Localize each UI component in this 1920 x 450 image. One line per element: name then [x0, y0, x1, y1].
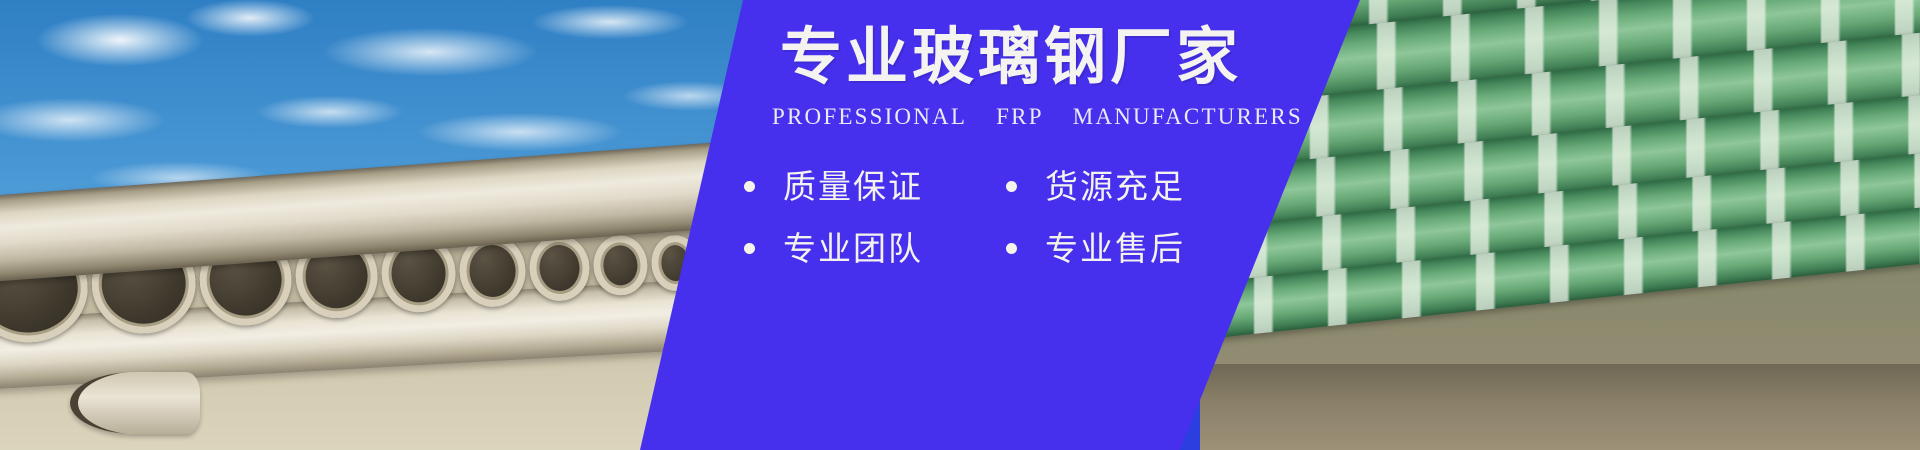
bullet-dot-icon: [1006, 243, 1017, 254]
feature-item-quality: 质量保证: [744, 170, 1006, 203]
feature-item-aftersales: 专业售后: [1006, 232, 1185, 265]
subheadline: PROFESSIONAL FRP MANUFACTURERS: [772, 104, 1303, 130]
headline: 专业玻璃钢厂家: [780, 26, 1242, 88]
pipe-opening: [592, 234, 649, 297]
feature-label: 质量保证: [783, 170, 923, 203]
feature-label: 专业团队: [783, 232, 923, 265]
feature-item-team: 专业团队: [744, 232, 1006, 265]
feature-list: 质量保证 货源充足 专业团队 专业售后: [744, 155, 1264, 279]
feature-row: 专业团队 专业售后: [744, 217, 1264, 279]
promotional-banner: 专业玻璃钢厂家 PROFESSIONAL FRP MANUFACTURERS 质…: [0, 0, 1920, 450]
subheadline-word-1: PROFESSIONAL: [772, 104, 966, 129]
bullet-dot-icon: [744, 243, 755, 254]
bullet-dot-icon: [1006, 181, 1017, 192]
subheadline-word-3: MANUFACTURERS: [1073, 104, 1303, 129]
pipe-opening: [528, 233, 592, 302]
grey-pipe-stub: [70, 372, 200, 434]
feature-label: 专业售后: [1045, 232, 1185, 265]
subheadline-word-2: FRP: [996, 104, 1043, 129]
bullet-dot-icon: [744, 181, 755, 192]
feature-row: 质量保证 货源充足: [744, 155, 1264, 217]
feature-label: 货源充足: [1045, 170, 1185, 203]
feature-item-supply: 货源充足: [1006, 170, 1185, 203]
